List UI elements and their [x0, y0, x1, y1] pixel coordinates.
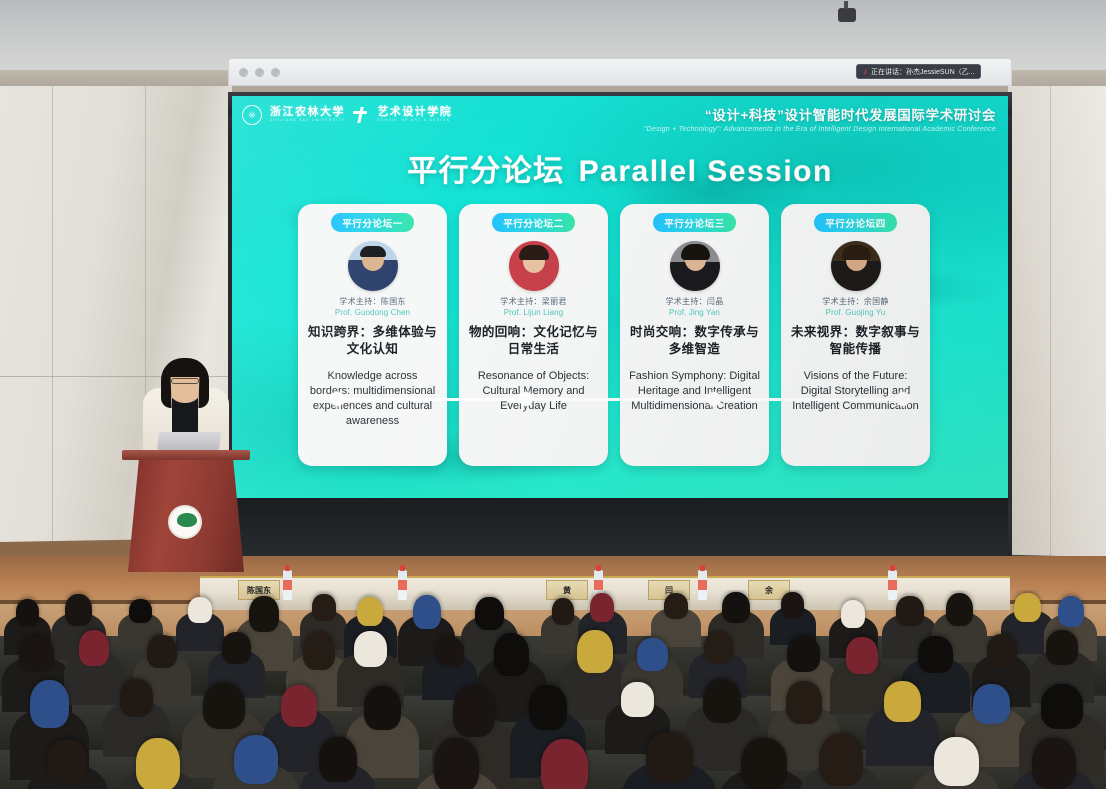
podium-top — [122, 450, 250, 460]
audience-member-head — [203, 683, 246, 728]
host-name-en: Prof. Guodong Chen — [335, 308, 410, 317]
session-card[interactable]: 平行分论坛三 学术主持：闫晶 Prof. Jing Yan 时尚交响：数字传承与… — [620, 204, 769, 466]
audience-member-head — [436, 637, 464, 667]
audience-member-head — [312, 594, 335, 621]
presentation-slide: ※ 浙江农林大学 ZHEJIANG A&F UNIVERSITY 艺术设计学院 … — [232, 96, 1008, 498]
host-name-en: Prof. Lijun Liang — [504, 308, 564, 317]
university-name-en: ZHEJIANG A&F UNIVERSITY — [270, 118, 345, 123]
timeline-dot-list — [330, 392, 910, 406]
session-badge: 平行分论坛二 — [492, 213, 575, 232]
university-emblem-icon: 1958 — [168, 505, 202, 539]
audience-member-head — [129, 599, 152, 624]
audience-member-head — [846, 637, 878, 674]
host-name-zh: 学术主持：闫晶 — [665, 296, 723, 307]
audience-area — [0, 590, 1106, 789]
audience-member-head — [541, 739, 589, 789]
session-card-list: 平行分论坛一 学术主持：陈国东 Prof. Guodong Chen 知识跨界：… — [298, 204, 946, 466]
avatar — [509, 241, 559, 291]
audience-member-head — [303, 632, 336, 670]
audience-member-head — [434, 738, 479, 789]
audience-member-head — [781, 592, 804, 618]
podium-laptop — [157, 432, 221, 450]
avatar — [670, 241, 720, 291]
session-card[interactable]: 平行分论坛一 学术主持：陈国东 Prof. Guodong Chen 知识跨界：… — [298, 204, 447, 466]
slide-heading-en: Parallel Session — [579, 155, 833, 188]
conference-title-block: “设计+科技”设计智能时代发展国际学术研讨会 "Design + Technol… — [644, 104, 996, 133]
avatar — [831, 241, 881, 291]
audience-member-head — [319, 737, 357, 781]
emblem-year: 1958 — [177, 519, 193, 526]
audience-member-head — [918, 636, 952, 673]
host-name-zh: 学术主持：余国静 — [822, 296, 888, 307]
audience-member-head — [577, 630, 613, 673]
audience-member-head — [741, 738, 787, 789]
ceiling-camera-icon — [838, 8, 856, 22]
audience-member-head — [934, 737, 979, 786]
window-minimize-icon[interactable] — [255, 68, 264, 77]
audience-member-head — [1046, 630, 1078, 665]
audience-member-head — [621, 682, 654, 716]
audience-member-head — [841, 600, 866, 628]
audience-member-head — [47, 739, 88, 783]
audience-member-head — [234, 735, 279, 784]
university-name-zh: 浙江农林大学 — [270, 107, 345, 119]
session-badge: 平行分论坛一 — [331, 213, 414, 232]
audience-member-head — [819, 734, 863, 786]
conference-title-zh: “设计+科技”设计智能时代发展国际学术研讨会 — [644, 104, 996, 124]
session-topic-zh: 未来视界：数字叙事与智能传播 — [789, 324, 922, 357]
audience-member-head — [637, 638, 668, 672]
audience-member-head — [946, 593, 974, 626]
host-name-en: Prof. Jing Yan — [669, 308, 720, 317]
audience-member-head — [120, 679, 154, 717]
slide-heading-zh: 平行分论坛 — [407, 155, 565, 188]
university-seal-icon: ※ — [242, 105, 262, 125]
audience-member-head — [896, 596, 924, 626]
audience-member-head — [188, 597, 212, 623]
session-card[interactable]: 平行分论坛四 学术主持：余国静 Prof. Guojing Yu 未来视界：数字… — [781, 204, 930, 466]
audience-member-head — [1041, 684, 1083, 729]
audience-member-head — [413, 595, 441, 629]
audience-member-head — [222, 632, 251, 664]
audience-member-head — [722, 592, 750, 624]
session-topic-zh: 知识跨界：多维体验与文化认知 — [306, 324, 439, 357]
school-name-zh: 艺术设计学院 — [377, 107, 452, 119]
speaking-indicator-icon: ♪ — [863, 67, 867, 76]
session-badge: 平行分论坛四 — [814, 213, 897, 232]
active-speaker-label: 正在讲话：孙杰JessieSUN（乙... — [871, 67, 974, 77]
host-name-zh: 学术主持：梁丽君 — [500, 296, 566, 307]
audience-member-head — [786, 681, 822, 724]
audience-member-head — [79, 630, 109, 666]
audience-member-head — [354, 631, 387, 668]
audience-member-head — [884, 681, 921, 722]
session-timeline — [330, 392, 910, 406]
session-topic-zh: 时尚交响：数字传承与多维智造 — [628, 324, 761, 357]
school-name-en: SCHOOL OF ART & DESIGN — [377, 118, 452, 123]
host-name-zh: 学术主持：陈国东 — [339, 296, 405, 307]
window-maximize-icon[interactable] — [271, 68, 280, 77]
audience-member-head — [147, 635, 176, 669]
conference-title-en: "Design + Technology": Advancements in t… — [644, 126, 996, 133]
audience-member-head — [704, 632, 733, 664]
session-topic-zh: 物的回响：文化记忆与日常生活 — [467, 324, 600, 357]
audience-member-head — [787, 636, 820, 672]
host-name-en: Prof. Guojing Yu — [826, 308, 886, 317]
school-mark-icon — [353, 107, 369, 123]
audience-member-head — [552, 598, 574, 625]
audience-member-head — [136, 738, 180, 789]
presenter-glasses-icon — [171, 378, 199, 384]
audience-member-head — [65, 594, 92, 626]
audience-member-head — [364, 686, 401, 730]
timeline-dot[interactable] — [707, 392, 721, 406]
audience-member-head — [494, 633, 530, 676]
audience-member-head — [281, 685, 317, 727]
audience-member-head — [987, 634, 1016, 669]
audience-member-head — [1014, 593, 1041, 623]
right-wall — [1008, 86, 1106, 586]
session-badge: 平行分论坛三 — [653, 213, 736, 232]
audience-member-head — [30, 680, 69, 728]
audience-member-head — [646, 732, 694, 782]
audience-member-head — [453, 686, 495, 737]
timeline-dot[interactable] — [896, 392, 910, 406]
audience-member-head — [1058, 596, 1084, 627]
audience-member-head — [249, 596, 278, 632]
audience-member-head — [19, 636, 54, 673]
slide-heading: 平行分论坛Parallel Session — [232, 146, 1008, 190]
timeline-dot[interactable] — [519, 392, 533, 406]
slide-logos: ※ 浙江农林大学 ZHEJIANG A&F UNIVERSITY 艺术设计学院 … — [242, 105, 452, 125]
audience-member-head — [590, 593, 614, 622]
audience-member-head — [973, 684, 1010, 724]
audience-member-head — [529, 685, 567, 730]
audience-member-head — [703, 679, 742, 723]
timeline-dot[interactable] — [330, 392, 344, 406]
audience-member-head — [1032, 738, 1076, 789]
seal-glyph: ※ — [248, 110, 256, 121]
active-speaker-toast: ♪ 正在讲话：孙杰JessieSUN（乙... — [856, 64, 981, 79]
audience-member-head — [16, 599, 39, 626]
audience-member-head — [664, 593, 689, 619]
window-close-icon[interactable] — [239, 68, 248, 77]
avatar — [348, 241, 398, 291]
auditorium-scene: ♪ 正在讲话：孙杰JessieSUN（乙... ※ 浙江农林大学 ZHEJIAN… — [0, 0, 1106, 789]
audience-member-head — [357, 597, 384, 626]
session-card[interactable]: 平行分论坛二 学术主持：梁丽君 Prof. Lijun Liang 物的回响：文… — [459, 204, 608, 466]
audience-member-head — [475, 597, 503, 630]
